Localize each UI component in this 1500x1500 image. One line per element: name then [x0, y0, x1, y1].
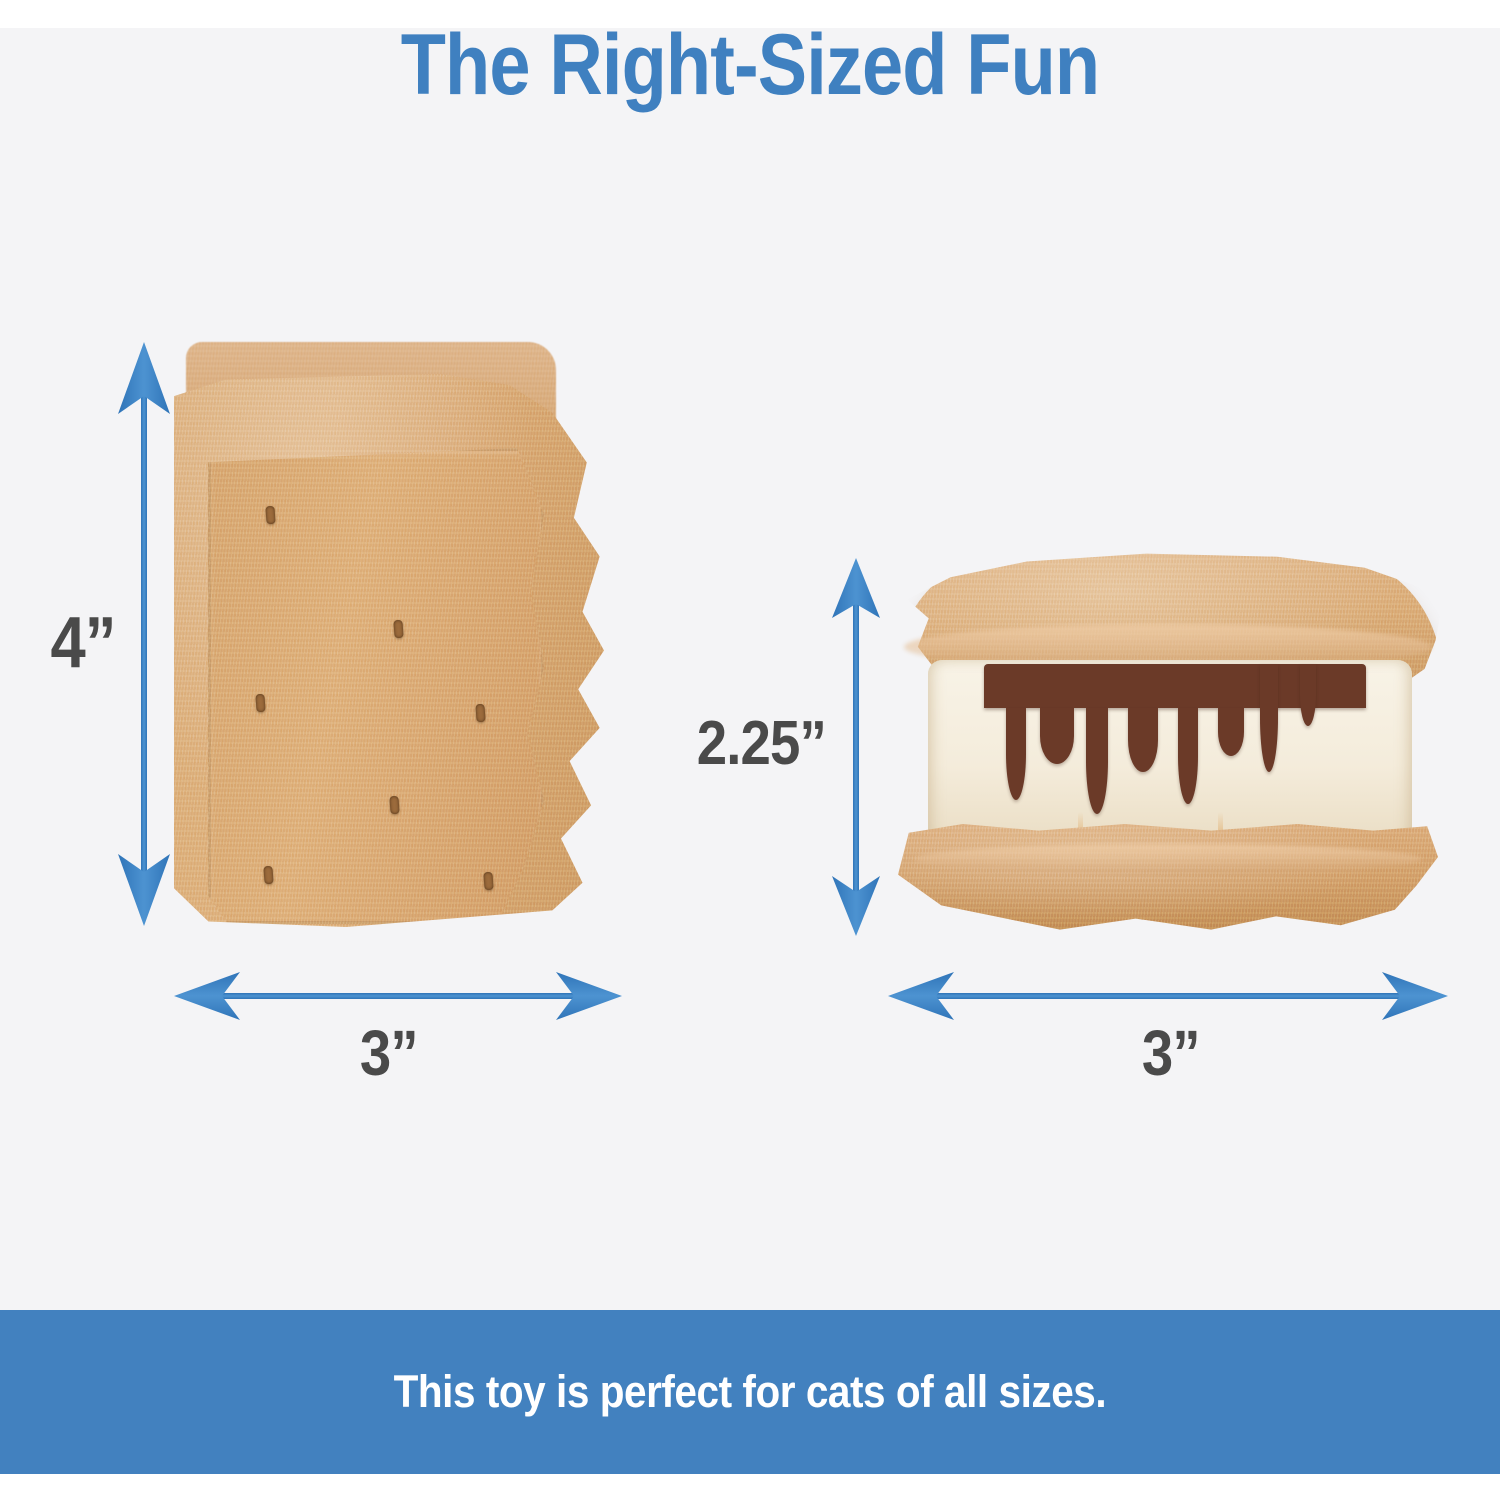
chocolate-drip — [1086, 708, 1108, 814]
bottom-cracker-seam — [914, 844, 1422, 874]
footer-banner: This toy is perfect for cats of all size… — [0, 1310, 1500, 1474]
chocolate-drip — [1128, 708, 1158, 772]
product-image-graham-cracker — [168, 342, 618, 927]
cracker-dock-hole — [255, 694, 265, 713]
cracker-dock-hole — [389, 796, 399, 815]
cracker-dock-hole — [475, 704, 485, 723]
cracker-inset-panel — [208, 448, 544, 924]
page-title: The Right-Sized Fun — [105, 22, 1395, 108]
chocolate-drip — [1006, 708, 1026, 800]
height-label-left: 4” — [50, 602, 115, 684]
cracker-dock-hole — [265, 506, 275, 525]
bottom-graham-cracker — [898, 824, 1438, 934]
chocolate-drip — [1300, 664, 1316, 726]
cracker-dock-hole — [483, 872, 493, 891]
cracker-dock-hole — [393, 620, 403, 639]
front-cracker-body — [174, 374, 604, 927]
height-arrow-right — [826, 552, 886, 942]
height-arrow-left — [112, 336, 176, 932]
chocolate-drip — [1260, 664, 1278, 772]
width-label-right: 3” — [1142, 1016, 1200, 1090]
chocolate-drip — [1218, 708, 1244, 756]
footer-banner-text: This toy is perfect for cats of all size… — [394, 1366, 1107, 1418]
width-label-left: 3” — [360, 1016, 418, 1090]
chocolate-drip — [1040, 708, 1074, 764]
chocolate-drip — [1178, 708, 1198, 804]
cracker-dock-hole — [263, 866, 273, 885]
height-label-right: 2.25” — [697, 708, 826, 779]
infographic-page: The Right-Sized Fun — [0, 0, 1500, 1500]
product-image-smore — [888, 552, 1448, 934]
